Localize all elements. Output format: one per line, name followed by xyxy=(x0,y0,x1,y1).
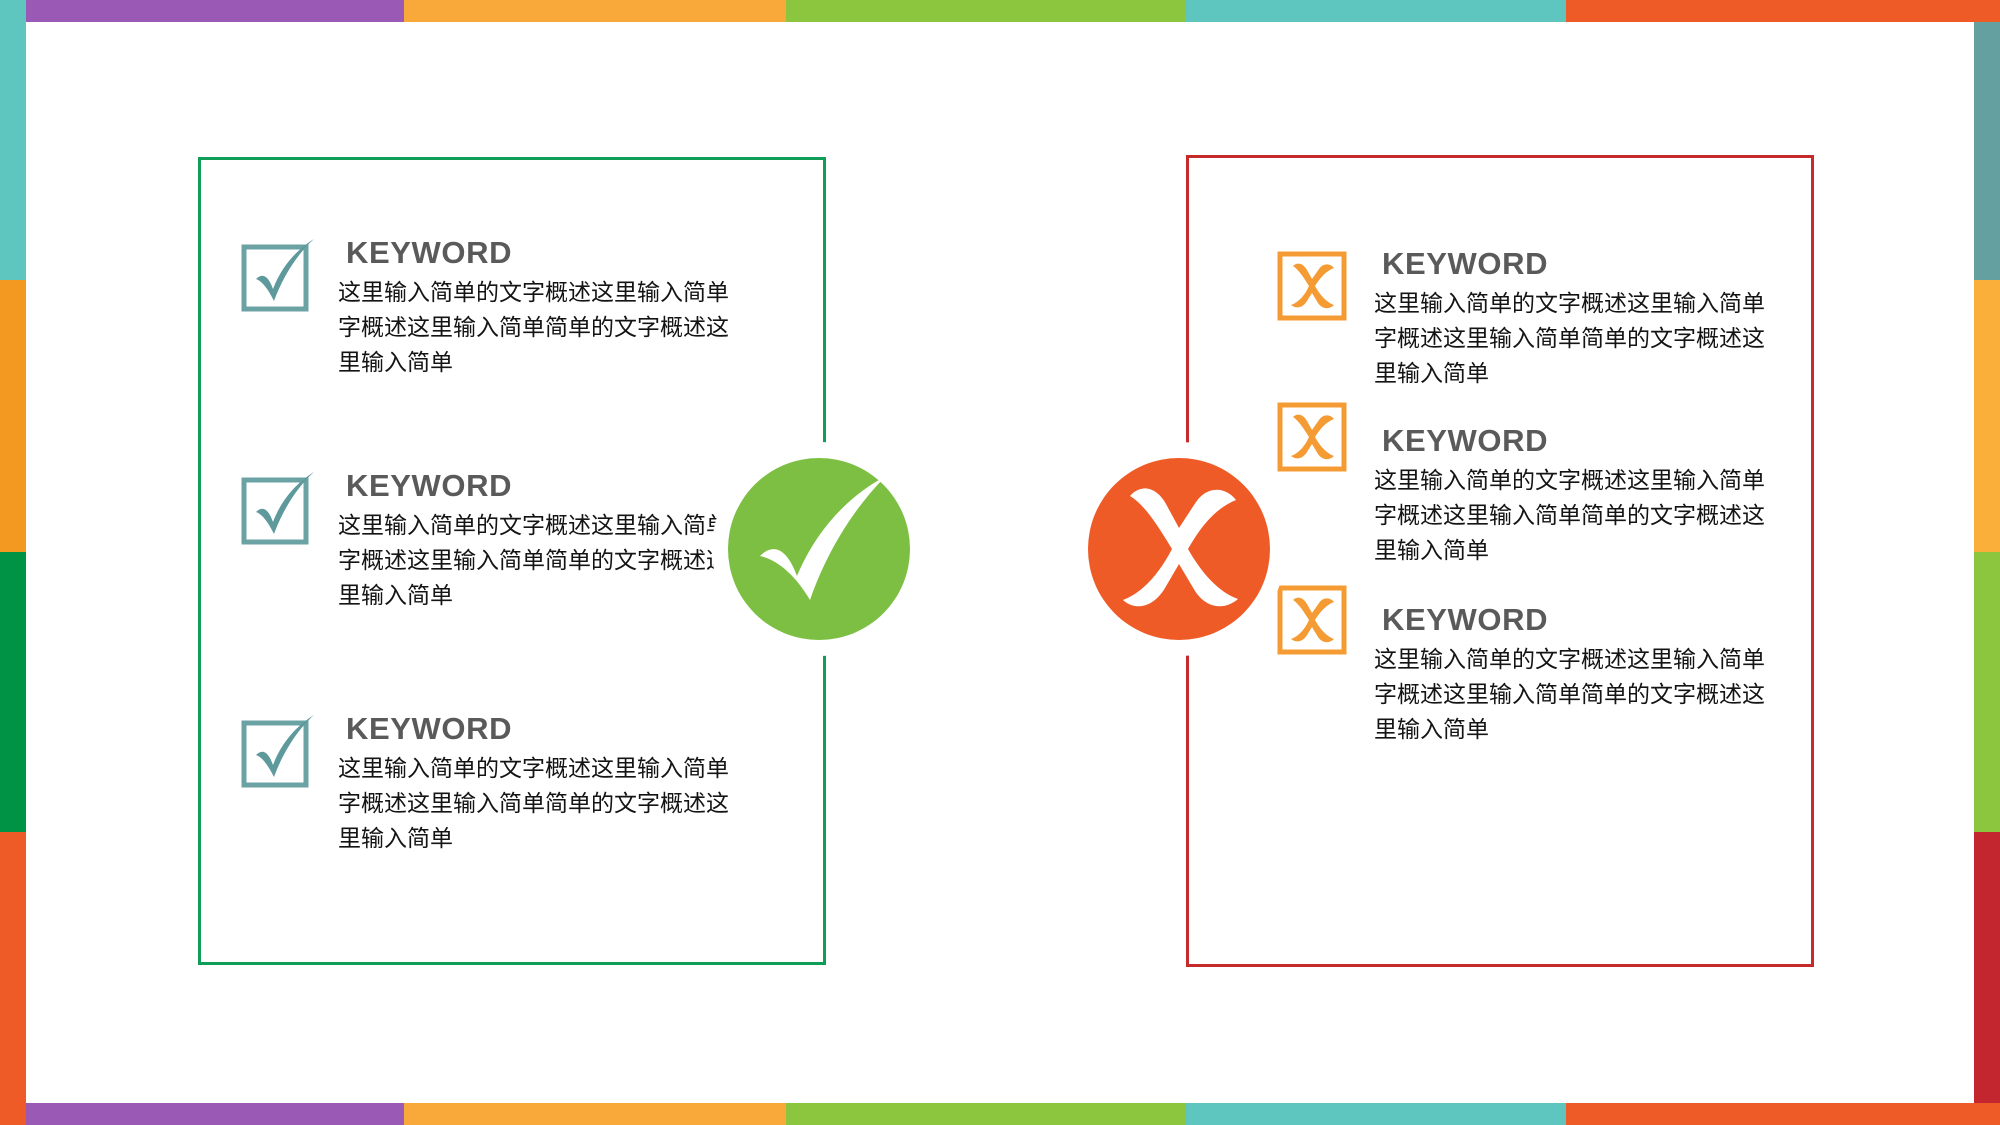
right-bar-segment-amber xyxy=(1974,280,2000,552)
pros-item-title: KEYWORD xyxy=(346,713,738,746)
pros-item-description: 这里输入简单的文字概述这里输入简单字概述这里输入简单简单的文字概述这里输入简单 xyxy=(338,509,738,615)
pros-item-text: KEYWORD 这里输入简单的文字概述这里输入简单字概述这里输入简单简单的文字概… xyxy=(338,470,738,614)
left-bar-segment-teal xyxy=(0,0,26,280)
slide-canvas: KEYWORD 这里输入简单的文字概述这里输入简单字概述这里输入简单简单的文字概… xyxy=(0,0,2000,1125)
checkbox-checked-icon xyxy=(240,713,316,789)
bottom-bar-segment-red xyxy=(1566,1103,2000,1125)
top-bar-segment-purple xyxy=(26,0,404,22)
cons-list-item[interactable]: KEYWORD 这里输入简单的文字概述这里输入简单字概述这里输入简单简单的文字概… xyxy=(1276,425,1774,569)
x-circle-icon xyxy=(1088,458,1270,640)
cons-item-title: KEYWORD xyxy=(1382,425,1774,458)
pros-item-text: KEYWORD 这里输入简单的文字概述这里输入简单字概述这里输入简单简单的文字概… xyxy=(338,237,738,381)
bottom-bar-segment-teal xyxy=(1186,1103,1566,1125)
checkbox-crossed-icon xyxy=(1276,399,1352,475)
right-bar-segment-crimson xyxy=(1974,832,2000,1103)
pros-item-description: 这里输入简单的文字概述这里输入简单字概述这里输入简单简单的文字概述这里输入简单 xyxy=(338,276,738,382)
pros-item-title: KEYWORD xyxy=(346,237,738,270)
pros-item-title: KEYWORD xyxy=(346,470,738,503)
cons-item-text: KEYWORD 这里输入简单的文字概述这里输入简单字概述这里输入简单简单的文字概… xyxy=(1374,425,1774,569)
top-bar-segment-teal xyxy=(1186,0,1566,22)
cons-item-title: KEYWORD xyxy=(1382,604,1774,637)
checkbox-crossed-icon xyxy=(1276,582,1352,658)
right-bar-segment-slate-teal xyxy=(1974,22,2000,280)
cons-item-text: KEYWORD 这里输入简单的文字概述这里输入简单字概述这里输入简单简单的文字概… xyxy=(1374,248,1774,392)
cons-item-text: KEYWORD 这里输入简单的文字概述这里输入简单字概述这里输入简单简单的文字概… xyxy=(1374,604,1774,748)
pros-list-item[interactable]: KEYWORD 这里输入简单的文字概述这里输入简单字概述这里输入简单简单的文字概… xyxy=(240,470,738,614)
top-bar-segment-lime xyxy=(786,0,1186,22)
cons-item-description: 这里输入简单的文字概述这里输入简单字概述这里输入简单简单的文字概述这里输入简单 xyxy=(1374,643,1774,749)
cons-list-item[interactable]: KEYWORD 这里输入简单的文字概述这里输入简单字概述这里输入简单简单的文字概… xyxy=(1276,248,1774,392)
checkbox-checked-icon xyxy=(240,470,316,546)
pros-list-item[interactable]: KEYWORD 这里输入简单的文字概述这里输入简单字概述这里输入简单简单的文字概… xyxy=(240,713,738,857)
pros-item-text: KEYWORD 这里输入简单的文字概述这里输入简单字概述这里输入简单简单的文字概… xyxy=(338,713,738,857)
bottom-bar-segment-lime xyxy=(786,1103,1186,1125)
checkbox-checked-icon xyxy=(240,237,316,313)
pros-list-item[interactable]: KEYWORD 这里输入简单的文字概述这里输入简单字概述这里输入简单简单的文字概… xyxy=(240,237,738,381)
bottom-bar-segment-purple xyxy=(26,1103,404,1125)
left-bar-segment-orange xyxy=(0,280,26,552)
cons-item-title: KEYWORD xyxy=(1382,248,1774,281)
right-bar-segment-lime xyxy=(1974,552,2000,832)
pros-item-description: 这里输入简单的文字概述这里输入简单字概述这里输入简单简单的文字概述这里输入简单 xyxy=(338,752,738,858)
cons-list-item[interactable]: KEYWORD 这里输入简单的文字概述这里输入简单字概述这里输入简单简单的文字概… xyxy=(1276,604,1774,748)
left-bar-segment-green xyxy=(0,552,26,832)
top-bar-segment-orange xyxy=(404,0,786,22)
check-circle-icon xyxy=(728,458,910,640)
top-bar-segment-red xyxy=(1566,0,2000,22)
checkbox-crossed-icon xyxy=(1276,248,1352,324)
cons-item-description: 这里输入简单的文字概述这里输入简单字概述这里输入简单简单的文字概述这里输入简单 xyxy=(1374,287,1774,393)
bottom-bar-segment-orange xyxy=(404,1103,786,1125)
left-bar-segment-red xyxy=(0,832,26,1125)
cons-item-description: 这里输入简单的文字概述这里输入简单字概述这里输入简单简单的文字概述这里输入简单 xyxy=(1374,464,1774,570)
